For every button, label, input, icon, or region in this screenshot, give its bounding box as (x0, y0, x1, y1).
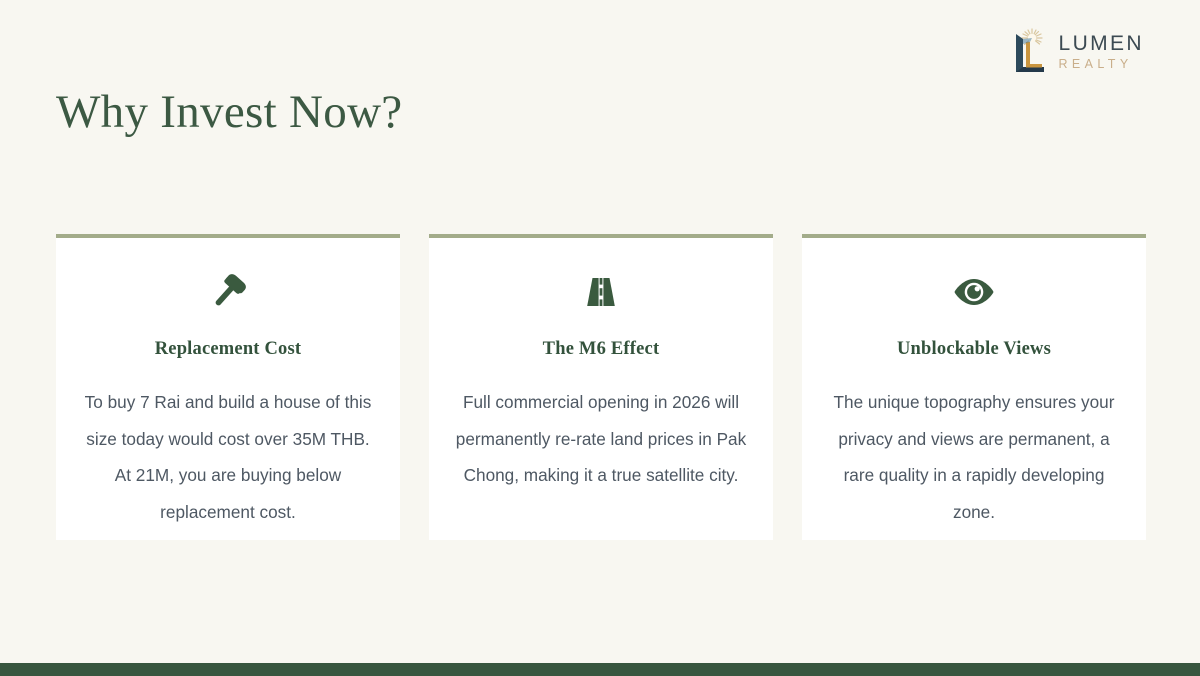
slide-root: LUMEN REALTY Why Invest Now? Replacement… (0, 0, 1200, 676)
card-title: Replacement Cost (155, 339, 302, 360)
logo-secondary-text: REALTY (1058, 58, 1144, 71)
bottom-accent-bar (0, 663, 1200, 676)
card-title: Unblockable Views (897, 339, 1051, 360)
road-icon (579, 268, 623, 316)
logo-primary-text: LUMEN (1058, 33, 1144, 54)
feature-card-unblockable-views: Unblockable Views The unique topography … (802, 234, 1146, 540)
lumen-sunburst-mark (1011, 28, 1049, 76)
eye-icon (952, 268, 996, 316)
card-title: The M6 Effect (543, 339, 660, 360)
page-title: Why Invest Now? (56, 85, 402, 139)
feature-card-m6-effect: The M6 Effect Full commercial opening in… (429, 234, 773, 540)
hammer-icon (206, 268, 250, 316)
card-body: Full commercial opening in 2026 will per… (451, 384, 751, 494)
feature-card-replacement-cost: Replacement Cost To buy 7 Rai and build … (56, 234, 400, 540)
brand-logo: LUMEN REALTY (1011, 28, 1144, 76)
card-body: The unique topography ensures your priva… (824, 384, 1124, 530)
logo-wordmark: LUMEN REALTY (1058, 33, 1144, 71)
feature-cards-row: Replacement Cost To buy 7 Rai and build … (56, 234, 1144, 540)
card-body: To buy 7 Rai and build a house of this s… (78, 384, 378, 530)
